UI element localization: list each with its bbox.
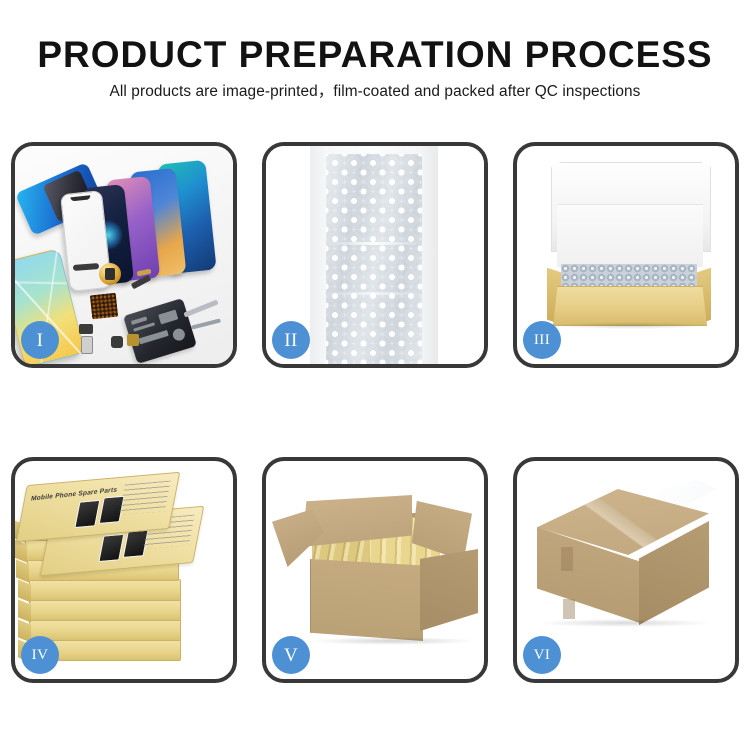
sim-tray-icon [81,336,93,354]
stacked-box [29,579,181,601]
speaker-icon [79,324,93,334]
drop-shadow [539,619,711,627]
wrap-seam-icon [326,292,422,295]
page-title: PRODUCT PREPARATION PROCESS [0,36,750,73]
step-numeral-2: II [284,331,297,350]
phone-screen-print-icon [74,500,100,528]
bubble-texture-icon [326,154,422,364]
step-badge-5: V [272,636,310,674]
step-badge-4: IV [21,636,59,674]
stacked-box [29,599,181,621]
step-panel-6[interactable]: VI [513,457,739,683]
bubble-wrap-sheet-icon [310,146,438,364]
foam-liner-icon [557,204,703,267]
drop-shadow [310,637,476,645]
step-numeral-1: I [37,331,44,350]
step-badge-6: VI [523,636,561,674]
page-subtitle: All products are image-printed，film-coat… [0,84,750,99]
process-step-grid: I II III [11,142,739,683]
step-panel-2[interactable]: II [262,142,488,368]
step-badge-2: II [272,321,310,359]
wrap-seam-icon [326,242,422,245]
step-numeral-5: V [284,646,298,665]
kraft-box-front-icon [553,286,707,326]
stacked-box [29,619,181,641]
step-badge-3: III [523,321,561,359]
spec-text-lines-icon [119,481,171,516]
drop-shadow [551,322,709,329]
step-panel-5[interactable]: V [262,457,488,683]
connector-chip-icon [90,293,118,320]
step-numeral-6: VI [534,648,551,663]
step-panel-1[interactable]: I [11,142,237,368]
carton-seam-icon [563,599,575,619]
step-numeral-3: III [534,333,550,348]
camera-module-icon [99,263,121,285]
carton-front-face-icon [310,559,423,641]
step-panel-4[interactable]: Mobile Phone Spare Parts Mobile Phone Sp… [11,457,237,683]
carton-side-face-icon [420,549,478,631]
step-panel-3[interactable]: III [513,142,739,368]
page-header: PRODUCT PREPARATION PROCESS All products… [0,0,750,128]
step-badge-1: I [21,321,59,359]
step-numeral-4: IV [32,648,49,663]
battery-connector-icon [127,334,139,346]
carton-seam-icon [561,547,573,571]
vibrator-motor-icon [111,336,123,348]
phone-screen-print-icon [98,534,124,562]
